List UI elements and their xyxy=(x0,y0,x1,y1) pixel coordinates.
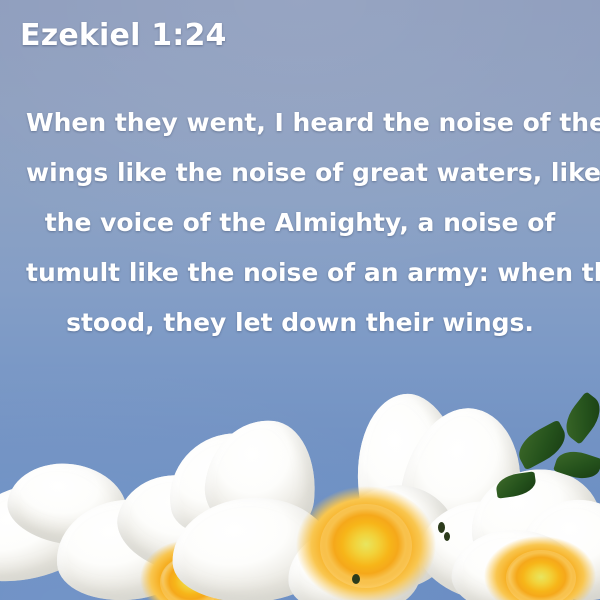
flower-stamen-ring xyxy=(296,486,436,600)
verse-line: tumult like the noise of an army: when t… xyxy=(26,248,574,298)
flower-petal xyxy=(51,493,201,600)
verse-reference-title: Ezekiel 1:24 xyxy=(20,18,227,53)
verse-line: When they went, I heard the noise of the… xyxy=(26,98,574,148)
verse-line: wings like the noise of great waters, li… xyxy=(26,148,574,198)
flower-center xyxy=(160,556,222,600)
flower-petal xyxy=(412,490,569,600)
flower-petal xyxy=(108,462,255,586)
flower-center xyxy=(506,550,576,600)
dark-speck xyxy=(352,574,360,584)
flower-stamen-ring xyxy=(484,536,596,600)
flower-petal xyxy=(160,424,302,548)
flower-petal xyxy=(390,397,536,564)
flower-petal xyxy=(0,467,114,597)
verse-text-block: When they went, I heard the noise of the… xyxy=(26,98,574,348)
leaf xyxy=(512,420,572,471)
dark-speck xyxy=(444,532,450,541)
leaf xyxy=(495,471,538,498)
verse-line: the voice of the Almighty, a noise of xyxy=(26,198,574,248)
leaf xyxy=(558,391,600,444)
dark-speck xyxy=(438,522,445,533)
flower-petal xyxy=(515,494,600,600)
verse-line: stood, they let down their wings. xyxy=(26,298,574,348)
flower-stamen-ring xyxy=(140,540,238,600)
flower-center xyxy=(320,504,412,588)
flower-petal xyxy=(449,526,585,600)
flower-petal xyxy=(286,523,423,600)
flower-photo-layer xyxy=(0,390,600,600)
scripture-verse-card: Ezekiel 1:24 When they went, I heard the… xyxy=(0,0,600,600)
flower-petal xyxy=(200,415,322,544)
flower-petal xyxy=(346,387,474,551)
leaf xyxy=(553,446,600,484)
flower-petal xyxy=(319,469,469,600)
flower-petal xyxy=(461,458,600,583)
flower-petal xyxy=(169,493,336,600)
flower-petal xyxy=(3,456,133,552)
